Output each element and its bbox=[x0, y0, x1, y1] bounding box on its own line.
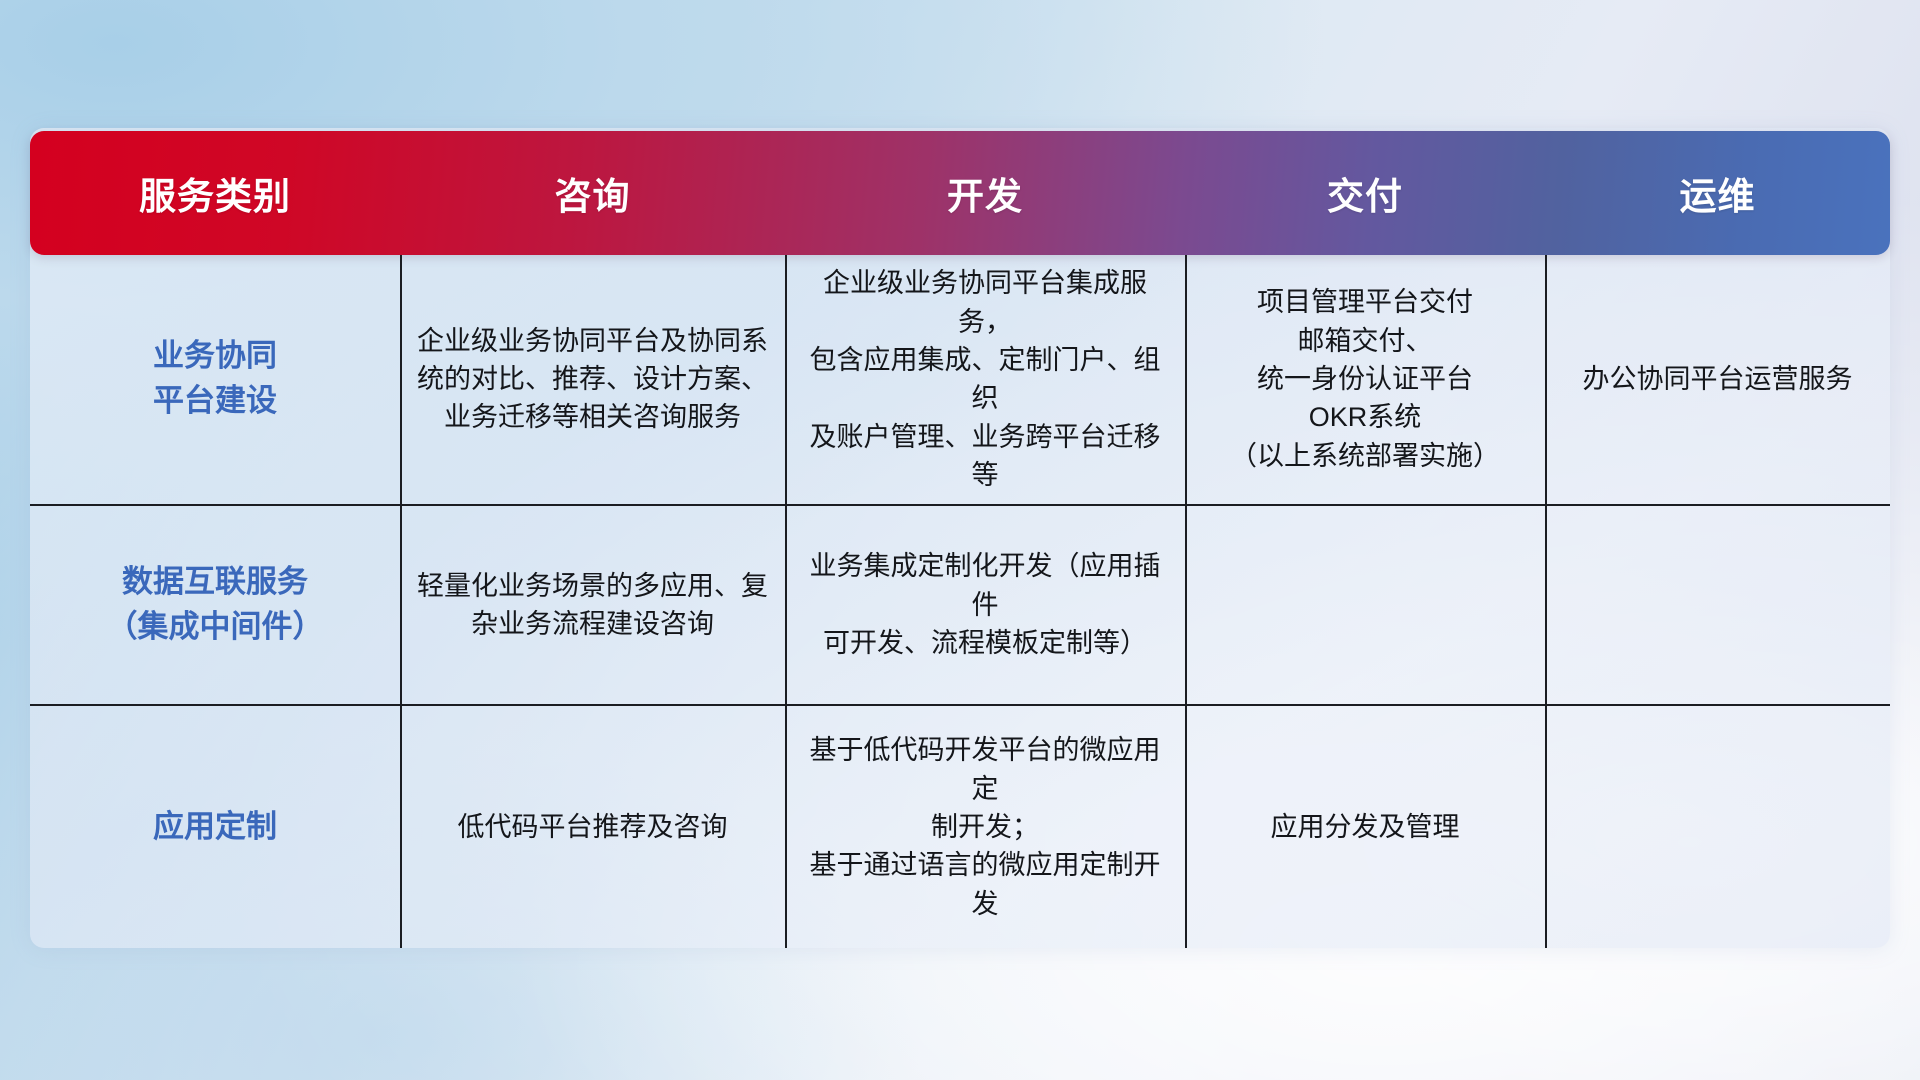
cell-delivery: 应用分发及管理 bbox=[1185, 706, 1545, 948]
cell-text-development: 企业级业务协同平台集成服务， 包含应用集成、定制门户、组织 及账户管理、业务跨平… bbox=[799, 264, 1171, 494]
cell-operations bbox=[1545, 506, 1890, 705]
cell-consulting: 轻量化业务场景的多应用、复 杂业务流程建设咨询 bbox=[400, 506, 785, 705]
row-label: 应用定制 bbox=[153, 805, 277, 850]
cell-development: 基于低代码开发平台的微应用定 制开发； 基于通过语言的微应用定制开发 bbox=[785, 706, 1185, 948]
column-header-category: 服务类别 bbox=[30, 166, 400, 220]
column-header-operations: 运维 bbox=[1545, 166, 1890, 220]
column-header-delivery: 交付 bbox=[1185, 166, 1545, 220]
cell-text-consulting: 企业级业务协同平台及协同系 统的对比、推荐、设计方案、 业务迁移等相关咨询服务 bbox=[417, 322, 768, 437]
cell-text-consulting: 轻量化业务场景的多应用、复 杂业务流程建设咨询 bbox=[417, 567, 768, 644]
cell-category: 业务协同 平台建设 bbox=[30, 255, 400, 504]
cell-operations: 办公协同平台运营服务 bbox=[1545, 255, 1890, 504]
cell-delivery bbox=[1185, 506, 1545, 705]
cell-text-delivery: 应用分发及管理 bbox=[1271, 808, 1460, 846]
table-row: 业务协同 平台建设企业级业务协同平台及协同系 统的对比、推荐、设计方案、 业务迁… bbox=[30, 255, 1890, 506]
cell-consulting: 低代码平台推荐及咨询 bbox=[400, 706, 785, 948]
column-header-development: 开发 bbox=[785, 166, 1185, 220]
cell-category: 数据互联服务 （集成中间件） bbox=[30, 506, 400, 705]
cell-text-delivery: 项目管理平台交付 邮箱交付、 统一身份认证平台 OKR系统 （以上系统部署实施） bbox=[1230, 283, 1500, 475]
table-row: 数据互联服务 （集成中间件）轻量化业务场景的多应用、复 杂业务流程建设咨询业务集… bbox=[30, 506, 1890, 707]
service-matrix-table: 业务协同 平台建设企业级业务协同平台及协同系 统的对比、推荐、设计方案、 业务迁… bbox=[30, 255, 1890, 948]
cell-development: 企业级业务协同平台集成服务， 包含应用集成、定制门户、组织 及账户管理、业务跨平… bbox=[785, 255, 1185, 504]
cell-category: 应用定制 bbox=[30, 706, 400, 948]
cell-delivery: 项目管理平台交付 邮箱交付、 统一身份认证平台 OKR系统 （以上系统部署实施） bbox=[1185, 255, 1545, 504]
cell-text-consulting: 低代码平台推荐及咨询 bbox=[458, 808, 728, 846]
row-label: 数据互联服务 （集成中间件） bbox=[107, 560, 324, 650]
column-header-consulting: 咨询 bbox=[400, 166, 785, 220]
cell-text-operations: 办公协同平台运营服务 bbox=[1583, 360, 1853, 398]
cell-text-development: 基于低代码开发平台的微应用定 制开发； 基于通过语言的微应用定制开发 bbox=[799, 731, 1171, 923]
cell-consulting: 企业级业务协同平台及协同系 统的对比、推荐、设计方案、 业务迁移等相关咨询服务 bbox=[400, 255, 785, 504]
cell-text-development: 业务集成定制化开发（应用插件 可开发、流程模板定制等） bbox=[799, 547, 1171, 662]
cell-development: 业务集成定制化开发（应用插件 可开发、流程模板定制等） bbox=[785, 506, 1185, 705]
row-label: 业务协同 平台建设 bbox=[153, 334, 277, 424]
cell-operations bbox=[1545, 706, 1890, 948]
table-row: 应用定制低代码平台推荐及咨询基于低代码开发平台的微应用定 制开发； 基于通过语言… bbox=[30, 706, 1890, 948]
table-header-row: 服务类别咨询开发交付运维 bbox=[30, 131, 1890, 255]
table-header-bar: 服务类别咨询开发交付运维 bbox=[30, 131, 1890, 255]
